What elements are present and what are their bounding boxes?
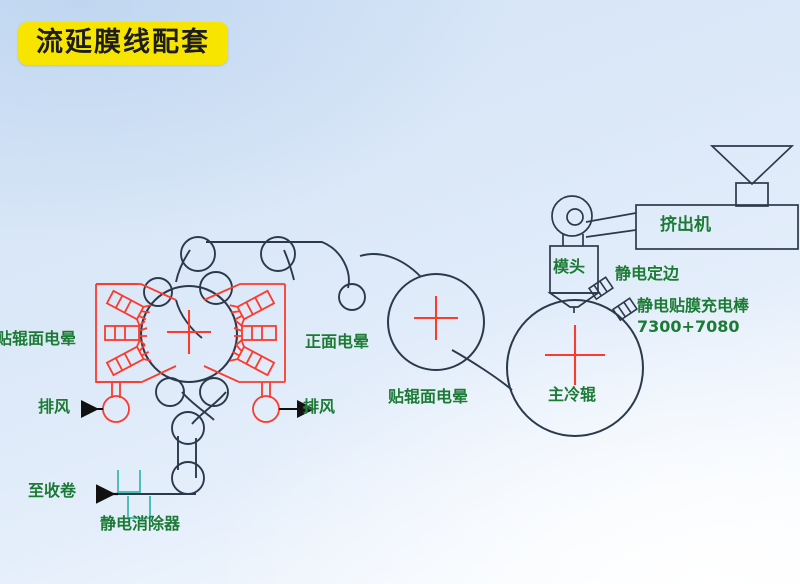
web-top-left-down <box>176 250 190 282</box>
label-roll-face-corona-mid: 贴辊面电晕 <box>388 388 468 407</box>
web-cross-strand-b <box>192 392 226 424</box>
idler-roller-top-left <box>181 237 215 271</box>
static-eliminator-upper-bar <box>118 470 140 492</box>
label-extruder: 挤出机 <box>660 215 711 235</box>
page-title: 流延膜线配套 <box>18 22 228 65</box>
corona-treater-roll-center-mark <box>167 310 211 354</box>
idler-roller-lower-right <box>200 378 228 406</box>
corona-electrode-left-1 <box>105 286 153 327</box>
hopper-neck <box>736 183 768 206</box>
label-charging-bar: 静电贴膜充电棒 <box>637 297 749 316</box>
web-idler-chain-top <box>206 242 349 288</box>
label-exhaust-right: 排风 <box>303 398 335 417</box>
die-pivot-outer <box>552 196 592 236</box>
web-chill-to-mid <box>452 350 512 390</box>
corona-electrode-left-3 <box>105 339 153 380</box>
idler-roller-upper-right <box>339 284 365 310</box>
idler-roller-bottom <box>172 462 204 494</box>
corona-treater-roll <box>141 286 237 382</box>
corona-left-enclosure <box>96 284 140 382</box>
web-top-right-down <box>284 250 294 280</box>
pinning-electrode-2 <box>613 298 637 320</box>
diagram-canvas: 流延膜线配套 挤出机 模头 静电定边 静电贴膜充电棒 7300+7080 主冷辊… <box>0 0 800 584</box>
label-to-winder: 至收卷 <box>28 482 76 501</box>
main-chill-roll-center-mark <box>545 325 605 385</box>
idler-roller-lower-left <box>156 378 184 406</box>
label-main-chill-roll: 主冷辊 <box>548 386 596 405</box>
label-front-corona: 正面电晕 <box>305 333 369 352</box>
label-exhaust-left: 排风 <box>38 398 70 417</box>
exhaust-fan-right <box>253 396 279 422</box>
process-flow-diagram <box>0 0 800 584</box>
corona-electrode-right-2 <box>234 321 276 345</box>
label-die-head: 模头 <box>553 258 585 277</box>
web-mid-to-idler <box>360 254 420 276</box>
exhaust-fan-left <box>103 396 129 422</box>
main-chill-roll <box>507 300 643 436</box>
idler-roller-mid-center-mark <box>414 296 458 340</box>
label-static-eliminator: 静电消除器 <box>100 515 180 534</box>
idler-roller-mid <box>388 274 484 370</box>
die-pivot-inner <box>567 209 583 225</box>
label-roll-face-corona-left: 贴辊面电晕 <box>0 330 76 349</box>
label-charging-bar-model: 7300+7080 <box>637 318 739 337</box>
idler-roller-bottom-mid <box>172 412 204 444</box>
die-arm <box>586 213 636 237</box>
label-electrostatic-pinning: 静电定边 <box>615 265 679 284</box>
corona-right-enclosure-top <box>204 284 285 300</box>
hopper-funnel-icon <box>712 146 792 184</box>
